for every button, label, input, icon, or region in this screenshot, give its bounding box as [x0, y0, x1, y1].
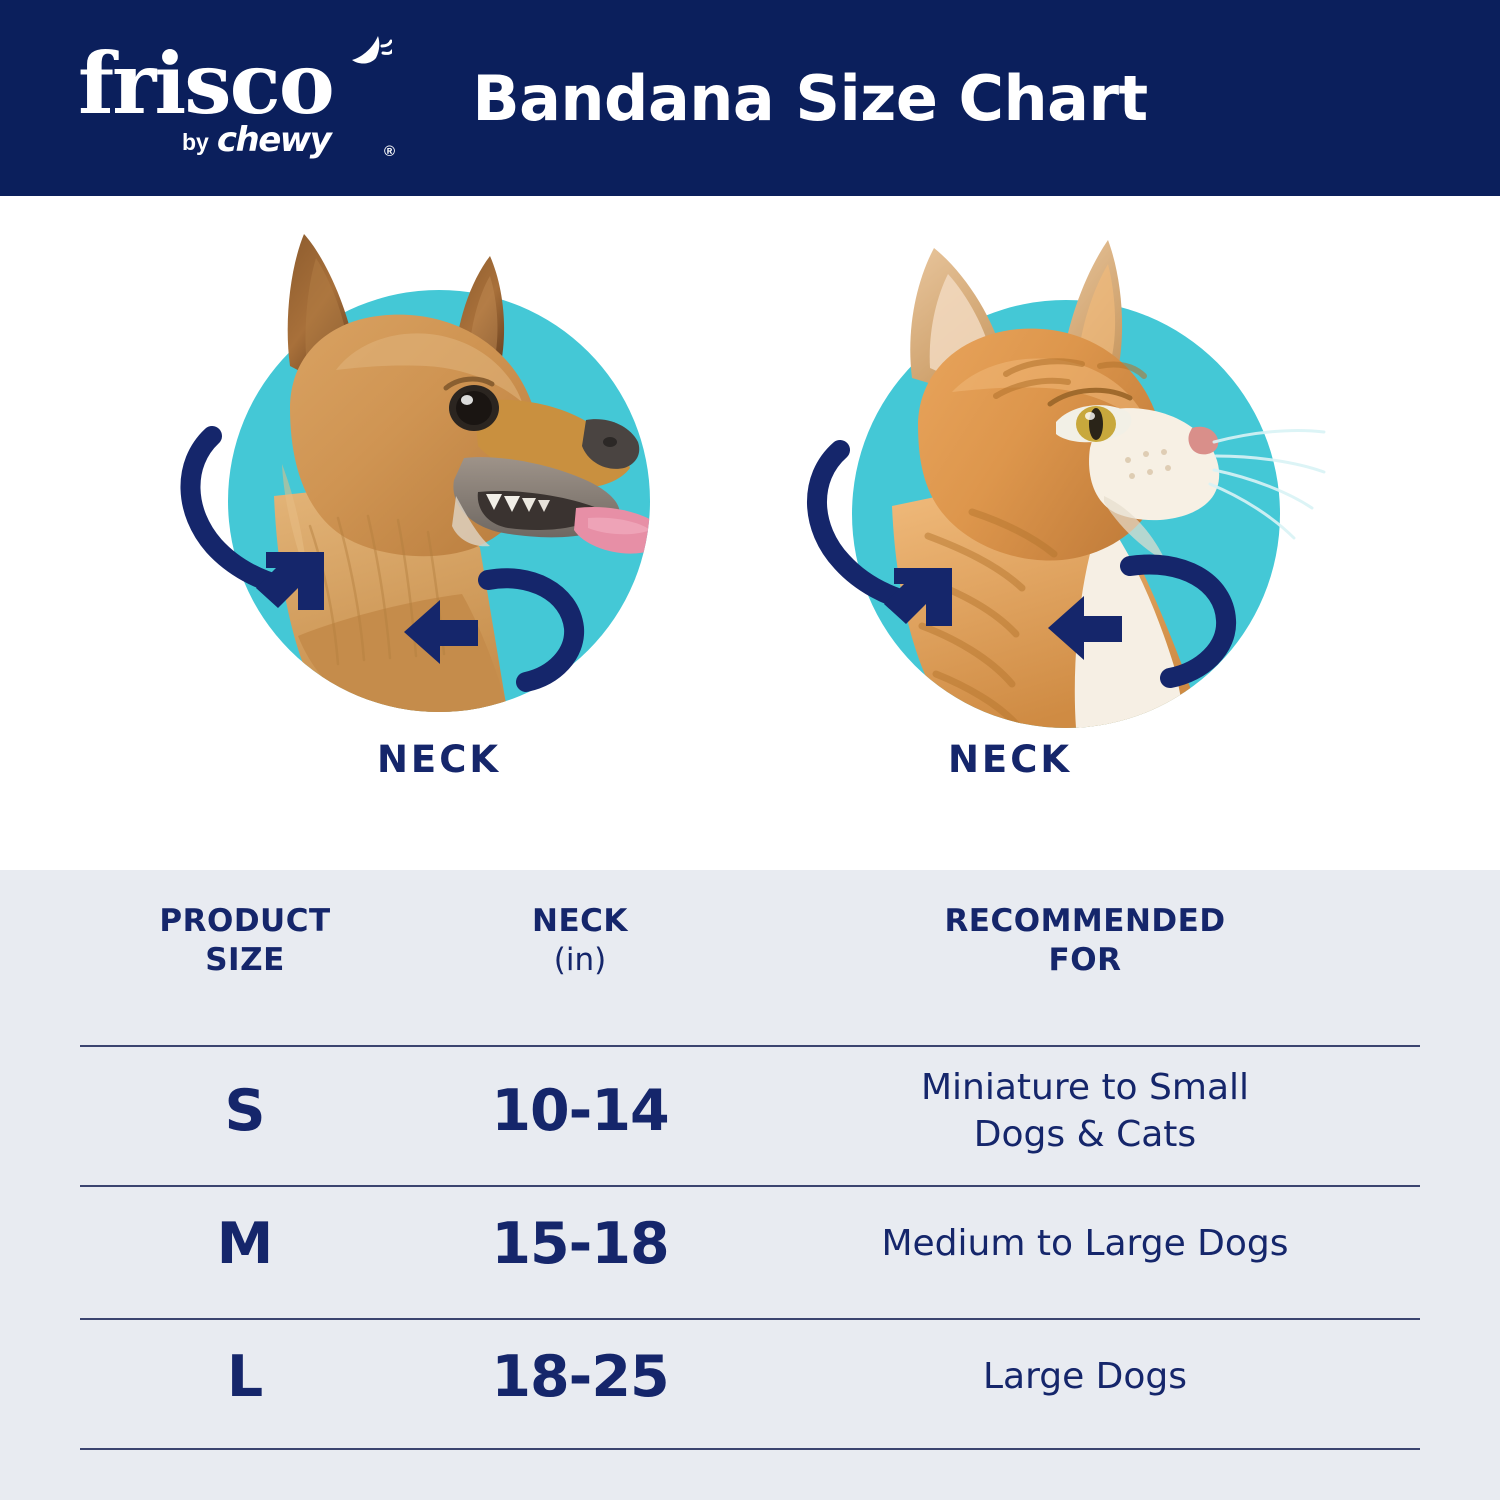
- dog-stage: [178, 196, 900, 736]
- page-title: Bandana Size Chart: [0, 0, 1500, 196]
- neck-value: 10-14: [491, 1083, 668, 1140]
- cell-size: L: [80, 1349, 410, 1406]
- cell-recommended: Large Dogs: [750, 1354, 1420, 1400]
- recommended-line1: Miniature to Small: [921, 1065, 1249, 1111]
- neck-value: 15-18: [491, 1216, 668, 1273]
- header-neck: NECK (in): [410, 902, 750, 980]
- illustration-band: NECK: [0, 196, 1500, 870]
- size-table: PRODUCT SIZE NECK (in) RECOMMENDED FOR S…: [80, 870, 1420, 1444]
- table-row: L 18-25 Large Dogs: [80, 1311, 1420, 1444]
- size-value: M: [217, 1216, 274, 1273]
- header-neck-unit: (in): [554, 941, 606, 980]
- cat-illustration-block: NECK: [800, 196, 1500, 870]
- cell-size: S: [80, 1083, 410, 1140]
- table-header-row: PRODUCT SIZE NECK (in) RECOMMENDED FOR: [80, 870, 1420, 1045]
- header-neck-line1: NECK: [532, 902, 628, 941]
- size-value: S: [224, 1083, 265, 1140]
- row-divider: [80, 1045, 1420, 1047]
- table-row: M 15-18 Medium to Large Dogs: [80, 1178, 1420, 1311]
- cell-neck: 18-25: [410, 1349, 750, 1406]
- row-divider: [80, 1448, 1420, 1450]
- recommended-line2: Dogs & Cats: [974, 1112, 1196, 1158]
- cell-neck: 10-14: [410, 1083, 750, 1140]
- cat-neck-label: NECK: [660, 738, 1360, 781]
- cell-size: M: [80, 1216, 410, 1273]
- cell-neck: 15-18: [410, 1216, 750, 1273]
- cat-stage: [800, 196, 1500, 736]
- cat-head-illustration: [800, 196, 1500, 736]
- header-product-size: PRODUCT SIZE: [80, 902, 410, 980]
- neck-value: 18-25: [491, 1349, 668, 1406]
- dog-head-illustration: [178, 196, 900, 736]
- header-bar: frisco ® by chewy Bandana Size Chart: [0, 0, 1500, 196]
- row-divider: [80, 1185, 1420, 1187]
- header-recommended-line1: RECOMMENDED: [944, 902, 1225, 941]
- recommended-line1: Large Dogs: [983, 1354, 1187, 1400]
- header-product-size-line2: SIZE: [205, 941, 285, 980]
- cell-recommended: Medium to Large Dogs: [750, 1221, 1420, 1267]
- header-product-size-line1: PRODUCT: [159, 902, 330, 941]
- row-divider: [80, 1318, 1420, 1320]
- size-table-section: PRODUCT SIZE NECK (in) RECOMMENDED FOR S…: [0, 870, 1500, 1500]
- header-recommended-line2: FOR: [1049, 941, 1122, 980]
- table-row: S 10-14 Miniature to Small Dogs & Cats: [80, 1045, 1420, 1178]
- header-recommended-for: RECOMMENDED FOR: [750, 902, 1420, 980]
- recommended-line1: Medium to Large Dogs: [881, 1221, 1288, 1267]
- size-value: L: [227, 1349, 263, 1406]
- cell-recommended: Miniature to Small Dogs & Cats: [750, 1065, 1420, 1157]
